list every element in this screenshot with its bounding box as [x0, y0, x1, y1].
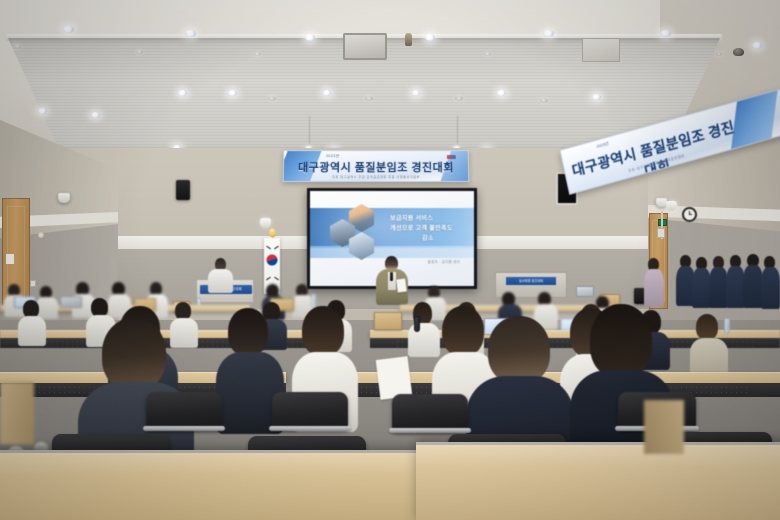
ceiling-dome-camera-icon — [733, 48, 744, 56]
banner-year: 2023년 — [326, 154, 339, 159]
chair-backrest — [392, 394, 468, 432]
microphone-icon — [390, 272, 393, 281]
foreground-desk-left — [0, 450, 434, 520]
slide-presenter-credit: 발표자 : 김지원 대리 — [428, 259, 460, 264]
downlight — [178, 90, 187, 96]
torso — [208, 269, 233, 293]
chair-backrest — [272, 392, 348, 430]
torso — [761, 267, 780, 309]
left-door-notice — [6, 254, 14, 264]
slide-title-line2: 개선으로 고객 불만족도 — [390, 223, 468, 232]
wall-junction-box — [657, 228, 665, 238]
downlight — [305, 34, 315, 41]
downlight — [716, 52, 722, 56]
downlight — [365, 96, 373, 101]
head — [228, 308, 268, 356]
downlight — [136, 50, 143, 54]
downlight — [543, 30, 554, 37]
downlight — [540, 98, 548, 103]
water-bottle — [311, 294, 316, 308]
head — [302, 306, 344, 356]
torso — [18, 316, 46, 346]
head — [102, 318, 166, 390]
banner-title: 대구광역시 품질분임조 경진대회 — [284, 159, 468, 175]
side-cabinet — [644, 400, 684, 454]
downlight — [660, 30, 671, 37]
chair-armrail — [143, 426, 225, 431]
laptop-lid — [60, 296, 82, 308]
water-bottle — [724, 318, 730, 334]
laptop — [576, 286, 594, 297]
head — [488, 316, 550, 384]
front-desk-sign: 심사위원 경진대회 — [506, 277, 556, 285]
trigram — [266, 277, 271, 281]
downlight — [497, 90, 506, 96]
trigram — [274, 277, 279, 281]
front-banner: 2023년 대구광역시 품질분임조 경진대회 주최 대구광역시 주관 한국표준협… — [283, 150, 470, 182]
side-cabinet — [0, 382, 34, 444]
trigram — [266, 246, 271, 250]
downlight — [14, 44, 21, 49]
chair-armrail — [269, 426, 351, 431]
torso — [170, 318, 198, 348]
chair-armrail — [389, 428, 471, 433]
flag-pole-finial — [269, 228, 276, 237]
laptop-lid — [576, 286, 594, 297]
trigram — [274, 246, 279, 250]
downlight — [63, 26, 74, 33]
banner-footer: 주최 대구광역시 주관 한국표준협회 후원 산업통상자원부 — [284, 175, 469, 179]
head — [442, 306, 484, 356]
downlight — [323, 90, 331, 96]
slide-title-line1: 보급지원 서비스 — [390, 213, 468, 222]
slide-title-line3: 감소 — [422, 233, 468, 242]
ceiling-camera-icon — [405, 33, 412, 46]
ceiling-vent — [582, 38, 620, 62]
downlight — [91, 112, 100, 118]
head — [696, 314, 718, 340]
ceiling-speaker-left — [176, 180, 190, 200]
laptop — [60, 296, 82, 308]
wall-speaker-left — [58, 193, 70, 203]
downlight — [185, 30, 196, 37]
taegeuk-symbol — [267, 255, 278, 266]
torso — [644, 269, 664, 307]
presenter-document — [396, 279, 407, 293]
ceiling-projector-housing — [343, 33, 387, 60]
left-wall-outlet — [30, 280, 36, 287]
downlight — [425, 34, 435, 41]
downlight — [455, 96, 463, 101]
torso — [743, 265, 763, 308]
front-desk-sign-text: 심사위원 경진대회 — [506, 277, 556, 285]
downlight — [484, 52, 491, 56]
downlight — [752, 42, 762, 49]
side-banner-year: 2023년 — [596, 141, 609, 150]
downlight — [254, 52, 261, 56]
downlight — [268, 96, 276, 101]
slide-hex-collage — [330, 204, 388, 258]
downlight — [38, 108, 47, 114]
wall-clock — [682, 207, 697, 222]
downlight — [412, 90, 420, 96]
head — [590, 304, 652, 378]
cardboard-box — [374, 312, 402, 330]
conference-hall-photo: 2023년 대구광역시 품질분임조 경진대회 주최 대구광역시 주관 한국표준협… — [0, 0, 780, 520]
foreground-desk-right — [416, 442, 780, 520]
downlight — [592, 94, 601, 100]
chair-backrest — [146, 392, 222, 430]
torso — [408, 323, 440, 357]
water-bottle — [414, 316, 420, 332]
downlight — [228, 90, 237, 96]
left-wall-fixture — [38, 232, 44, 238]
